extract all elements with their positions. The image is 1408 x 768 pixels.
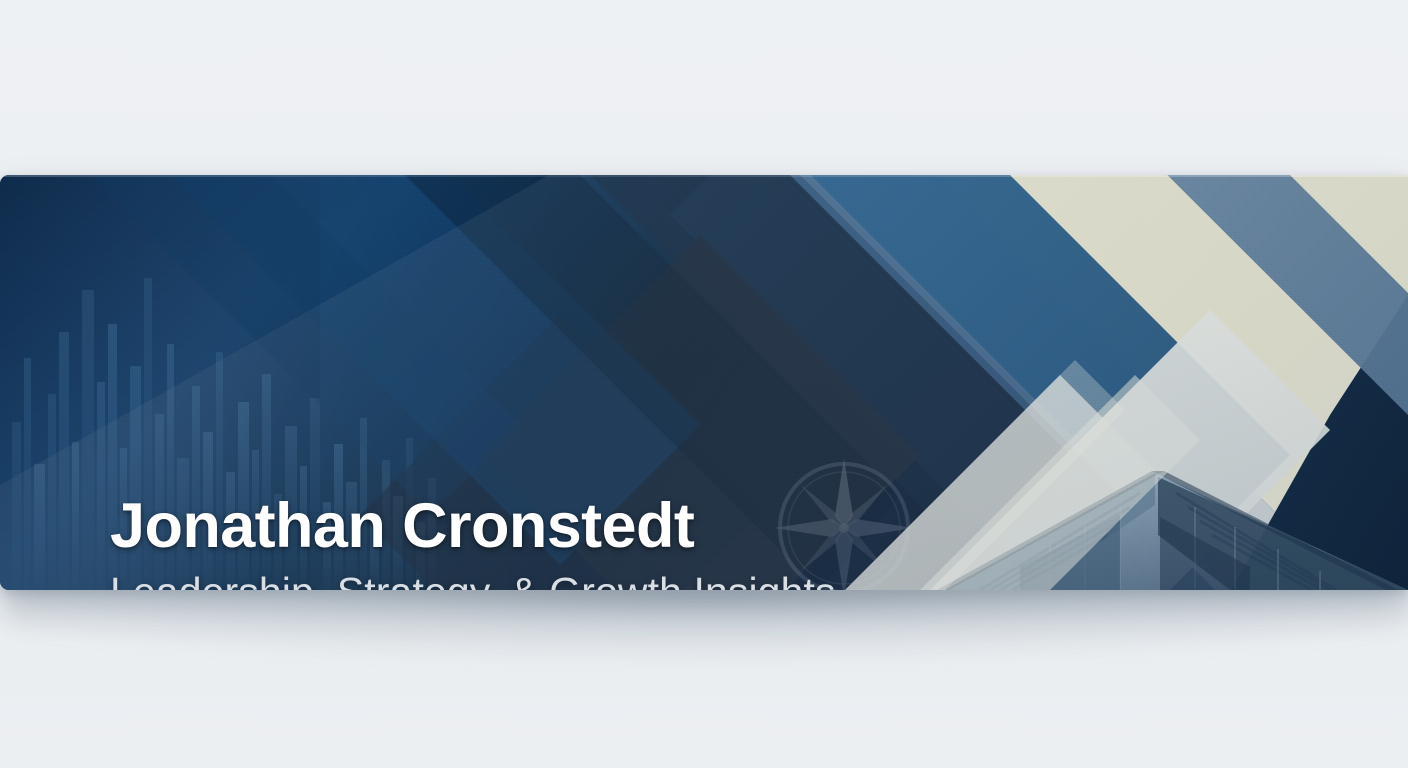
profile-banner: Jonathan Cronstedt Leadership, Strategy,… xyxy=(0,175,1408,590)
page-root: Jonathan Cronstedt Leadership, Strategy,… xyxy=(0,0,1408,768)
banner-top-highlight xyxy=(0,175,1408,177)
page-title: Jonathan Cronstedt xyxy=(110,495,836,558)
banner-text-block: Jonathan Cronstedt Leadership, Strategy,… xyxy=(110,495,836,590)
page-tagline: Leadership, Strategy, & Growth Insights xyxy=(110,572,836,590)
banner-drop-shadow xyxy=(10,588,1408,666)
